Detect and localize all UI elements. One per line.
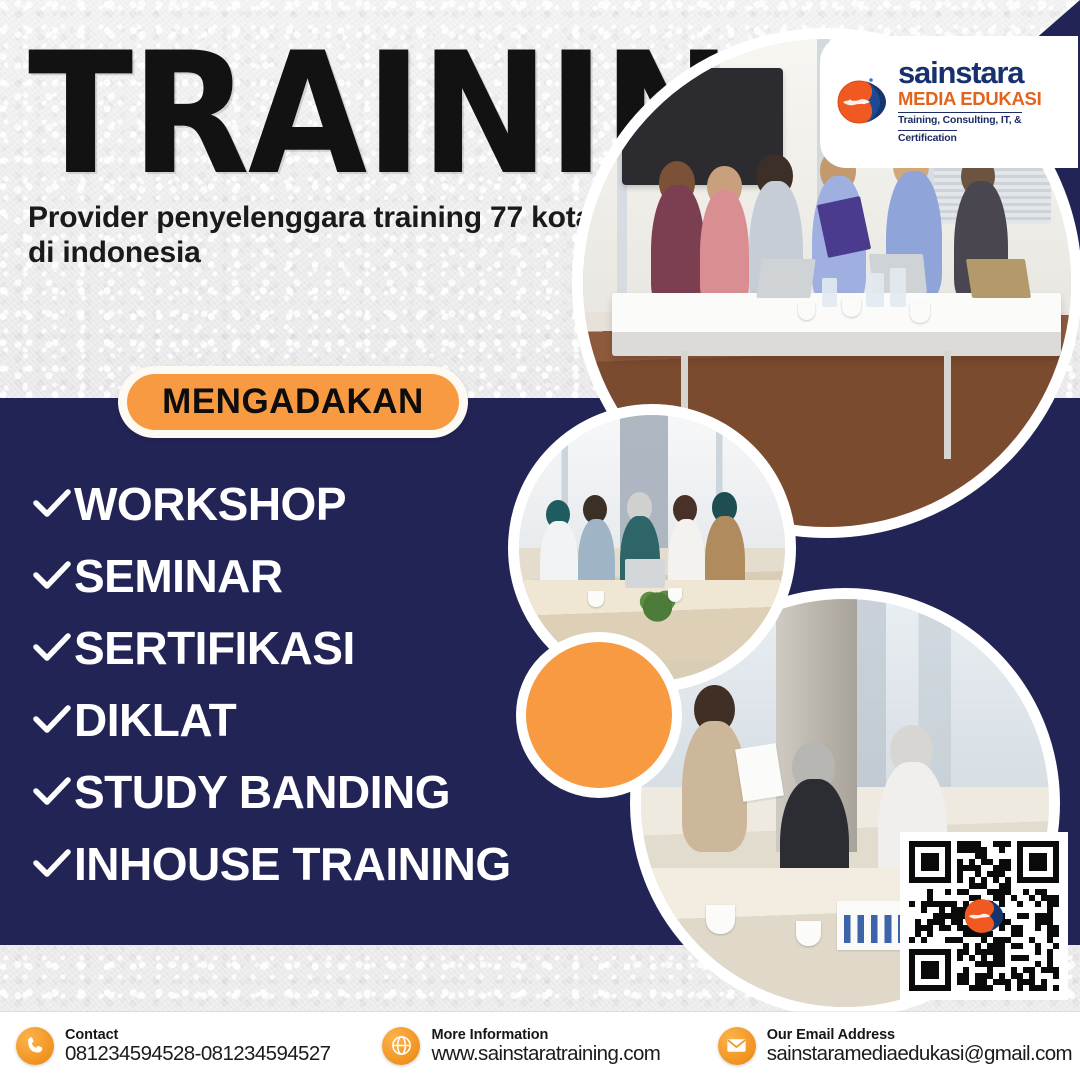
service-label: SEMINAR <box>74 549 283 603</box>
list-item: INHOUSE TRAINING <box>30 828 650 900</box>
logo-brand-name: sainstara <box>898 55 1023 90</box>
brand-logo-panel: sainstara MEDIA EDUKASI Training, Consul… <box>820 36 1078 168</box>
qr-code[interactable] <box>900 832 1068 1000</box>
check-icon <box>30 631 74 665</box>
service-label: STUDY BANDING <box>74 765 450 819</box>
qr-code-modules <box>909 841 1059 991</box>
footer-value: www.sainstaratraining.com <box>431 1042 660 1065</box>
page-title: TRAINING <box>28 46 640 184</box>
sainstara-flame-globe-icon <box>962 894 1007 939</box>
envelope-icon <box>718 1027 756 1065</box>
service-list: WORKSHOP SEMINAR SERTIFIKASI DIKLAT STUD… <box>30 468 650 900</box>
service-label: SERTIFIKASI <box>74 621 355 675</box>
mengadakan-badge: MENGADAKAN <box>118 366 468 438</box>
check-icon <box>30 559 74 593</box>
check-icon <box>30 703 74 737</box>
check-icon <box>30 847 74 881</box>
footer-value: 081234594528-081234594527 <box>65 1042 330 1065</box>
footer-label: Contact <box>65 1027 118 1043</box>
footer-contact-phone[interactable]: Contact 081234594528-081234594527 <box>0 1026 338 1067</box>
sainstara-flame-globe-icon <box>834 74 890 130</box>
service-label: DIKLAT <box>74 693 236 747</box>
service-label: INHOUSE TRAINING <box>74 837 511 891</box>
list-item: SERTIFIKASI <box>30 612 650 684</box>
list-item: DIKLAT <box>30 684 650 756</box>
logo-tagline: Training, Consulting, IT, & Certificatio… <box>898 112 1022 144</box>
footer-value: sainstaramediaedukasi@gmail.com <box>767 1042 1072 1065</box>
mengadakan-badge-label: MENGADAKAN <box>162 382 424 422</box>
contact-footer: Contact 081234594528-081234594527 More I… <box>0 1012 1080 1080</box>
footer-label: More Information <box>431 1027 548 1043</box>
footer-email[interactable]: Our Email Address sainstaramediaedukasi@… <box>710 1026 1080 1067</box>
footer-label: Our Email Address <box>767 1027 895 1043</box>
globe-icon <box>382 1027 420 1065</box>
list-item: SEMINAR <box>30 540 650 612</box>
phone-icon <box>16 1027 54 1065</box>
list-item: WORKSHOP <box>30 468 650 540</box>
logo-brand-subtitle: MEDIA EDUKASI <box>898 88 1041 109</box>
headline-block: TRAINING Provider penyelenggara training… <box>28 46 628 271</box>
check-icon <box>30 487 74 521</box>
footer-website[interactable]: More Information www.sainstaratraining.c… <box>374 1026 679 1067</box>
check-icon <box>30 775 74 809</box>
training-poster: TRAINING Provider penyelenggara training… <box>0 0 1080 1080</box>
list-item: STUDY BANDING <box>30 756 650 828</box>
service-label: WORKSHOP <box>74 477 346 531</box>
